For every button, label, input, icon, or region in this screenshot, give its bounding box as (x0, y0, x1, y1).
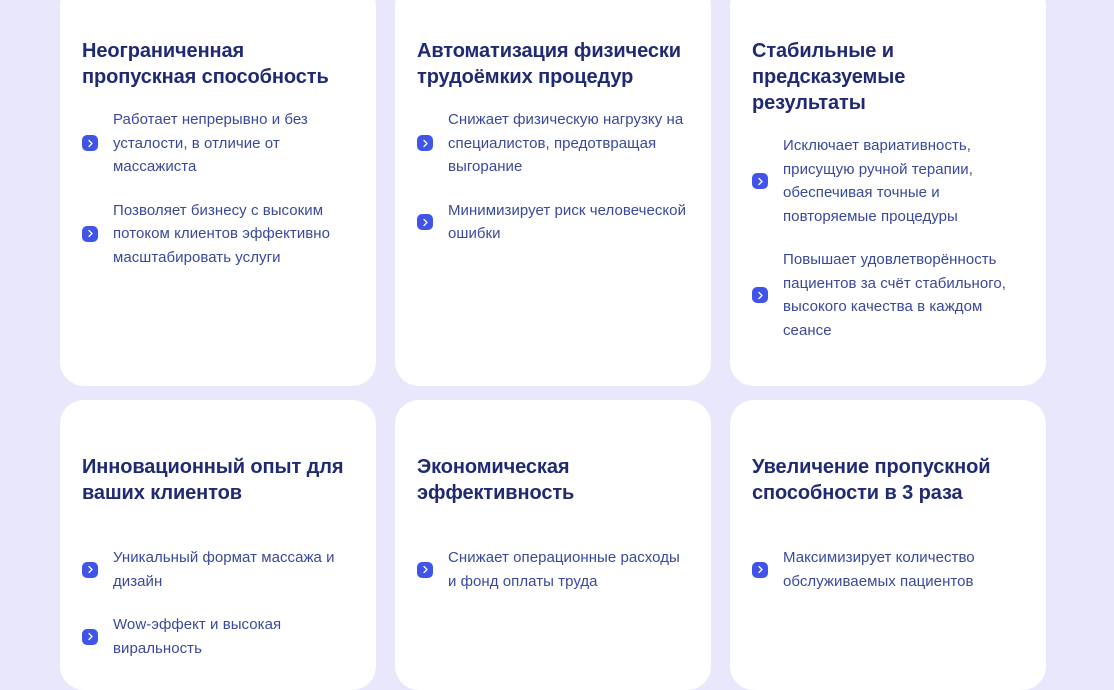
bullet-text: Минимизирует риск человеческой ошибки (448, 199, 689, 246)
list-item: Максимизирует количество обслуживаемых п… (752, 546, 1024, 593)
benefit-card-economic-efficiency[interactable]: Экономическая эффективность Снижает опер… (395, 400, 711, 690)
chevron-right-icon (752, 287, 768, 303)
benefit-card-throughput-increase-3x[interactable]: Увеличение пропускной способности в 3 ра… (730, 400, 1046, 690)
chevron-right-icon (82, 135, 98, 151)
bullet-text: Исключает вариативность, присущую ручной… (783, 134, 1024, 228)
benefits-card-grid: Неограниченная пропускная способность Ра… (60, 0, 1046, 690)
benefit-card-automation-of-physically-demanding-procedures[interactable]: Автоматизация физически трудоёмких проце… (395, 0, 711, 386)
chevron-right-icon (82, 562, 98, 578)
page-gutter-right (1046, 0, 1114, 672)
bullet-text: Повышает удовлетворённость пациентов за … (783, 248, 1024, 342)
list-item: Wow-эффект и высокая виральность (82, 613, 354, 660)
bullet-text: Позволяет бизнесу с высоким потоком клие… (113, 199, 354, 270)
card-title: Неограниченная пропускная способность (82, 0, 354, 90)
list-item: Минимизирует риск человеческой ошибки (417, 199, 689, 246)
benefit-bullet-list: Максимизирует количество обслуживаемых п… (752, 506, 1024, 593)
bullet-text: Работает непрерывно и без усталости, в о… (113, 108, 354, 179)
list-item: Уникальный формат массажа и дизайн (82, 546, 354, 593)
chevron-right-icon (82, 226, 98, 242)
list-item: Исключает вариативность, присущую ручной… (752, 134, 1024, 228)
card-title: Стабильные и предсказуемые результаты (752, 0, 1024, 116)
bullet-text: Уникальный формат массажа и дизайн (113, 546, 354, 593)
chevron-right-icon (417, 214, 433, 230)
list-item: Снижает физическую нагрузку на специалис… (417, 108, 689, 179)
bullet-text: Снижает физическую нагрузку на специалис… (448, 108, 689, 179)
chevron-right-icon (417, 562, 433, 578)
chevron-right-icon (417, 135, 433, 151)
card-title: Автоматизация физически трудоёмких проце… (417, 0, 689, 90)
benefit-card-stable-predictable-results[interactable]: Стабильные и предсказуемые результаты Ис… (730, 0, 1046, 386)
benefit-bullet-list: Исключает вариативность, присущую ручной… (752, 116, 1024, 342)
chevron-right-icon (82, 629, 98, 645)
page-gutter-left (0, 0, 60, 672)
bullet-text: Снижает операционные расходы и фонд опла… (448, 546, 689, 593)
bullet-text: Максимизирует количество обслуживаемых п… (783, 546, 1024, 593)
chevron-right-icon (752, 562, 768, 578)
benefit-bullet-list: Снижает физическую нагрузку на специалис… (417, 90, 689, 246)
card-title: Увеличение пропускной способности в 3 ра… (752, 400, 1024, 506)
benefits-section: Неограниченная пропускная способность Ра… (0, 0, 1114, 672)
benefit-card-innovative-client-experience[interactable]: Инновационный опыт для ваших клиентов Ун… (60, 400, 376, 690)
bullet-text: Wow-эффект и высокая виральность (113, 613, 354, 660)
benefit-bullet-list: Снижает операционные расходы и фонд опла… (417, 506, 689, 593)
list-item: Снижает операционные расходы и фонд опла… (417, 546, 689, 593)
list-item: Работает непрерывно и без усталости, в о… (82, 108, 354, 179)
benefit-card-unlimited-throughput[interactable]: Неограниченная пропускная способность Ра… (60, 0, 376, 386)
benefit-bullet-list: Работает непрерывно и без усталости, в о… (82, 90, 354, 269)
card-title: Инновационный опыт для ваших клиентов (82, 400, 354, 506)
list-item: Позволяет бизнесу с высоким потоком клие… (82, 199, 354, 270)
chevron-right-icon (752, 173, 768, 189)
list-item: Повышает удовлетворённость пациентов за … (752, 248, 1024, 342)
card-title: Экономическая эффективность (417, 400, 689, 506)
benefit-bullet-list: Уникальный формат массажа и дизайн Wow-э… (82, 506, 354, 660)
